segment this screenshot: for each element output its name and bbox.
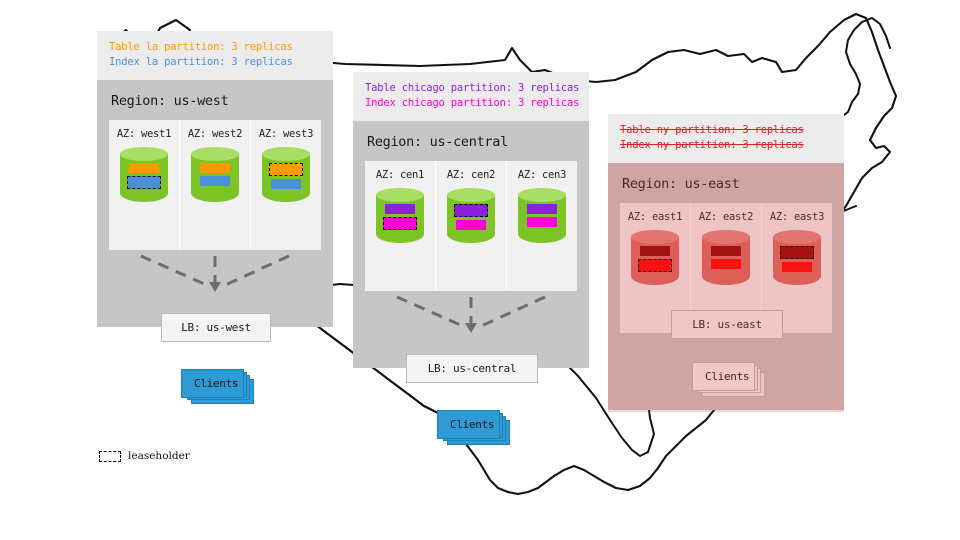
partition-banner-us-west: Table la partition: 3 replicas Index la … [97,31,333,80]
region-title-us-east: Region: us-east [608,163,844,203]
region-title-us-west: Region: us-west [97,80,333,120]
partition-line-table: Table ny partition: 3 replicas [620,123,832,138]
az-cell-west1[interactable]: AZ: west1 [109,120,180,250]
az-cell-cen2[interactable]: AZ: cen2 [436,161,507,291]
diagram-canvas: Table la partition: 3 replicas Index la … [0,0,960,540]
az-label-east3: AZ: east3 [762,211,832,223]
replica-band-index-leaseholder [638,259,672,272]
replica-band-table-leaseholder [780,246,814,259]
replica-band-index [271,179,301,189]
arrowhead [465,323,477,333]
region-cluster-us-east: Table ny partition: 3 replicas Index ny … [608,114,844,410]
region-cluster-us-west: Table la partition: 3 replicas Index la … [97,31,333,327]
az-cell-cen3[interactable]: AZ: cen3 [507,161,577,291]
load-balancer-us-central[interactable]: LB: us-central [406,354,538,383]
az-label-east2: AZ: east2 [691,211,761,223]
replica-band-table-leaseholder [269,163,303,176]
clients-label-us-west: Clients [181,369,244,398]
az-strip-us-central: AZ: cen1 AZ: cen2 [365,161,577,291]
node-cylinder-east3[interactable] [773,230,821,292]
leaseholder-swatch-icon [99,451,121,462]
az-label-cen1: AZ: cen1 [365,169,435,181]
replica-band-index-leaseholder [127,176,161,189]
node-cylinder-cen3[interactable] [518,188,566,250]
replica-band-index [456,220,486,230]
replica-band-table [527,204,557,214]
clients-stack-us-central[interactable]: Clients [437,410,500,439]
partition-banner-us-central: Table chicago partition: 3 replicas Inde… [353,72,589,121]
clients-stack-us-east[interactable]: Clients [692,362,755,391]
partition-line-table: Table chicago partition: 3 replicas [365,81,577,96]
replica-band-table [200,163,230,173]
az-cell-west3[interactable]: AZ: west3 [251,120,321,250]
region-title-us-central: Region: us-central [353,121,589,161]
replica-band-table-leaseholder [454,204,488,217]
region-cluster-us-central: Table chicago partition: 3 replicas Inde… [353,72,589,368]
replica-band-index [711,259,741,269]
az-label-cen3: AZ: cen3 [507,169,577,181]
az-cell-cen1[interactable]: AZ: cen1 [365,161,436,291]
legend: leaseholder [99,450,190,462]
legend-label: leaseholder [128,450,190,462]
clients-label-us-central: Clients [437,410,500,439]
load-balancer-us-east[interactable]: LB: us-east [671,310,783,339]
arrowhead [209,282,221,292]
partition-line-index: Index la partition: 3 replicas [109,55,321,70]
replica-band-table [711,246,741,256]
replica-band-table [129,163,159,173]
node-cylinder-east1[interactable] [631,230,679,292]
replica-band-index-leaseholder [383,217,417,230]
partition-line-index: Index ny partition: 3 replicas [620,138,832,153]
replica-band-index [527,217,557,227]
az-label-cen2: AZ: cen2 [436,169,506,181]
replica-band-table [385,204,415,214]
partition-line-table: Table la partition: 3 replicas [109,40,321,55]
az-label-east1: AZ: east1 [620,211,690,223]
az-label-west1: AZ: west1 [109,128,179,140]
node-cylinder-west3[interactable] [262,147,310,209]
replica-band-table [640,246,670,256]
replica-band-index [782,262,812,272]
partition-line-index: Index chicago partition: 3 replicas [365,96,577,111]
region-body-us-west: Region: us-west AZ: west1 AZ: west2 [97,80,333,327]
clients-label-us-east: Clients [692,362,755,391]
load-balancer-us-west[interactable]: LB: us-west [161,313,271,342]
partition-banner-us-east: Table ny partition: 3 replicas Index ny … [608,114,844,163]
node-cylinder-cen1[interactable] [376,188,424,250]
node-cylinder-east2[interactable] [702,230,750,292]
az-label-west3: AZ: west3 [251,128,321,140]
node-cylinder-west2[interactable] [191,147,239,209]
node-cylinder-west1[interactable] [120,147,168,209]
node-cylinder-cen2[interactable] [447,188,495,250]
az-cell-west2[interactable]: AZ: west2 [180,120,251,250]
az-label-west2: AZ: west2 [180,128,250,140]
replica-band-index [200,176,230,186]
clients-stack-us-west[interactable]: Clients [181,369,244,398]
region-body-us-central: Region: us-central AZ: cen1 AZ: cen2 [353,121,589,368]
az-strip-us-west: AZ: west1 AZ: west2 [109,120,321,250]
